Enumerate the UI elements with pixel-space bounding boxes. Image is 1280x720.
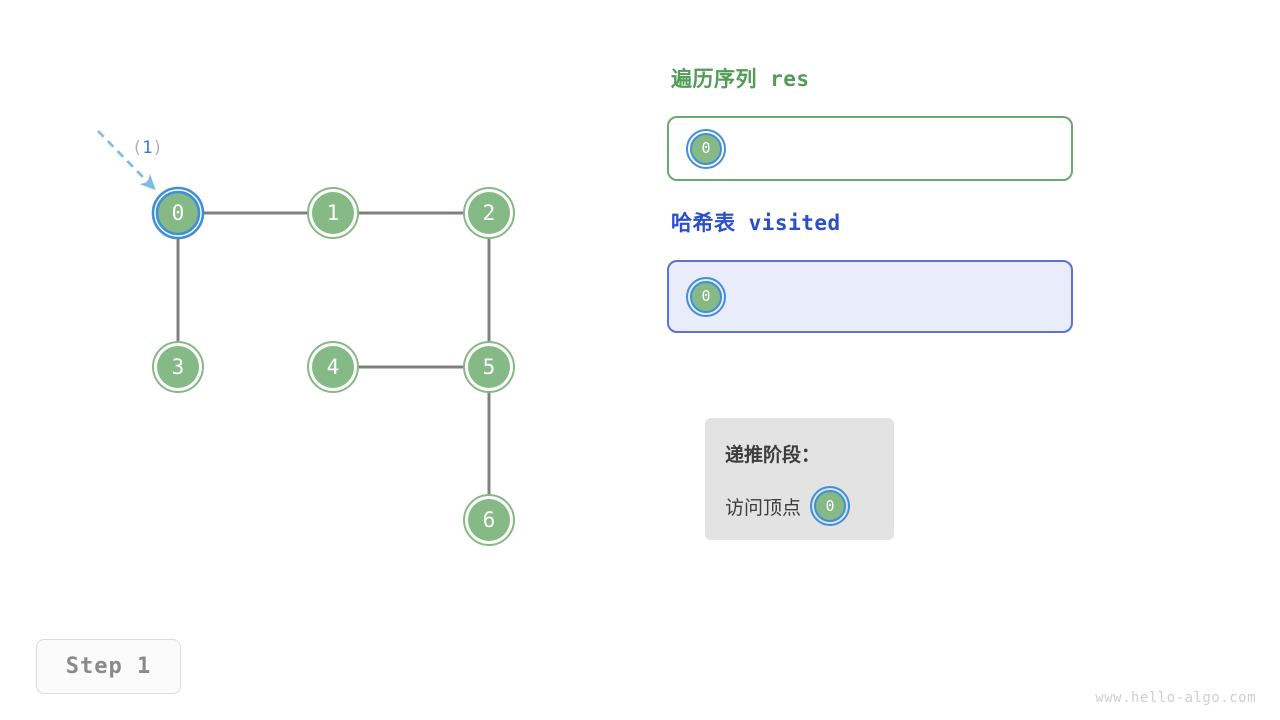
chip-label: 0	[701, 289, 710, 304]
node-label: 6	[483, 508, 496, 532]
watermark: www.hello-algo.com	[1095, 690, 1256, 706]
graph-node-5[interactable]: 5	[464, 342, 514, 392]
chip-label: 0	[701, 141, 710, 156]
chip-label: 0	[826, 499, 835, 514]
node-label: 4	[327, 355, 340, 379]
phase-detail-text: 访问顶点	[725, 493, 801, 520]
visited-title: 哈希表 visited	[671, 207, 841, 237]
visited-hashtable-box: 0	[667, 260, 1073, 333]
graph-node-6[interactable]: 6	[464, 495, 514, 545]
graph-node-2[interactable]: 2	[464, 188, 514, 238]
visited-item: 0	[686, 277, 726, 317]
graph-node-1[interactable]: 1	[308, 188, 358, 238]
res-title: 遍历序列 res	[671, 63, 810, 93]
node-label: 2	[483, 201, 496, 225]
graph-node-0[interactable]: 0	[153, 188, 203, 238]
node-label: 1	[327, 201, 340, 225]
node-label: 3	[172, 355, 185, 379]
node-label: 0	[172, 201, 185, 225]
slide-canvas: (1) 0123456 遍历序列 res 0 哈希表 visited 0 递推阶…	[0, 0, 1280, 720]
phase-vertex-chip: 0	[810, 486, 850, 526]
phase-info-box: 递推阶段： 访问顶点 0	[705, 418, 894, 540]
node-label: 5	[483, 355, 496, 379]
res-item: 0	[686, 129, 726, 169]
phase-detail-line: 访问顶点 0	[725, 486, 894, 526]
graph-diagram: (1) 0123456	[0, 0, 640, 640]
step-badge: Step 1	[36, 639, 181, 694]
graph-node-4[interactable]: 4	[308, 342, 358, 392]
res-array-box: 0	[667, 116, 1073, 181]
pointer-layer: (1)	[98, 131, 163, 189]
phase-heading: 递推阶段：	[725, 440, 894, 467]
pointer-label: (1)	[132, 138, 163, 158]
chip-inner-disc: 0	[690, 281, 722, 313]
graph-node-3[interactable]: 3	[153, 342, 203, 392]
chip-inner-disc: 0	[814, 490, 846, 522]
chip-inner-disc: 0	[690, 133, 722, 165]
